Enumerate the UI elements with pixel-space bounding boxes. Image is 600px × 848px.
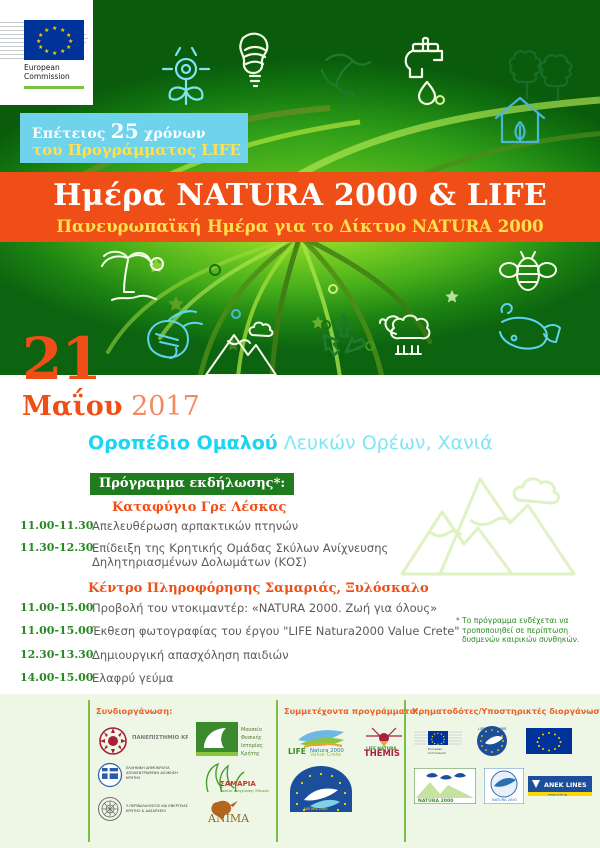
- flower-icon: [163, 48, 209, 104]
- shrimp-icon: [148, 311, 202, 358]
- life-value-crete-icon: LIFE Natura 2000 Value Crete: [284, 726, 356, 756]
- natura-2000-network-icon: NATURA 2000: [414, 768, 476, 804]
- anniversary-badge: Επέτειος 25 χρόνων του Προγράμματος LIFE: [20, 113, 248, 163]
- logo-natura-2000-network: NATURA 2000: [414, 768, 476, 804]
- footer: Συνδιοργάνωση: Συμμετέχοντα προγράμματα:…: [0, 694, 600, 848]
- location-secondary: Λευκών Ορέων, Χανιά: [284, 432, 493, 454]
- life-programme-icon: LIFE PROGRAMME: [470, 724, 514, 758]
- natural-history-museum-icon: Μουσείο Φυσικής Ιστορίας Κρήτης: [196, 722, 272, 758]
- eu-logo-caption: European Commission: [24, 64, 86, 81]
- footer-heading-programmes: Συμμετέχοντα προγράμματα:: [284, 706, 419, 716]
- european-union-icon: [526, 726, 572, 756]
- logo-label: ANIMA: [207, 812, 250, 824]
- lightbulb-icon: [240, 34, 267, 86]
- logo-samaria: ΣΑΜΑΡΙΑ Φορέας Διαχείρισης Εθνικού Δρυμο…: [200, 762, 270, 796]
- anima-icon: ANIMA: [204, 798, 270, 824]
- schedule-time: 11.00-15.00: [20, 624, 93, 637]
- logo-life-natura-badge: NATURA 2000: [288, 766, 354, 814]
- svg-text:ΚΡΗΤΗΣ: ΚΡΗΤΗΣ: [126, 776, 141, 780]
- venue-title-2: Κέντρο Πληροφόρησης Σαμαριάς, Ξυλόσκαλο: [88, 581, 429, 596]
- palm-tree-icon: [102, 252, 163, 300]
- logo-label: ΠΑΝΕΠΙΣΤΗΜΙΟ ΚΡΗΤΗΣ: [132, 735, 188, 741]
- program-footnote: * Το πρόγραμμα ενδέχεται να τροποποιηθεί…: [462, 616, 594, 645]
- logo-life-programme: LIFE PROGRAMME: [470, 724, 514, 758]
- anniversary-suffix: χρόνων: [139, 126, 206, 142]
- university-of-crete-icon: ΠΑΝΕΠΙΣΤΗΜΙΟ ΚΡΗΤΗΣ: [96, 725, 188, 757]
- footnote-text: Το πρόγραμμα ενδέχεται να τροποποιηθεί σ…: [462, 616, 579, 644]
- logo-label: ANEK LINES: [544, 781, 587, 789]
- svg-text:Φορέας Διαχείρισης Εθνικού Δρυ: Φορέας Διαχείρισης Εθνικού Δρυμού: [220, 789, 270, 793]
- eu-commission-logo: ★ ★ ★ ★ ★ ★ ★ ★ ★ ★ ★ ★ European Commiss…: [14, 14, 90, 98]
- schedule-time: 11.00-15.00: [20, 601, 93, 614]
- svg-text:Ιστορίας: Ιστορίας: [241, 742, 263, 749]
- logo-decentralized-administration: ΕΛΛΗΝΙΚΗ ΔΗΜΟΚΡΑΤΙΑ ΑΠΟΚΕΝΤΡΩΜΕΝΗ ΔΙΟΙΚΗ…: [96, 760, 188, 790]
- schedule-time: 11.30-12.30: [20, 541, 93, 554]
- logo-life-natura-themis: LIFE NATURA THEMIS: [358, 724, 412, 756]
- event-location: Οροπέδιο Ομαλού Λευκών Ορέων, Χανιά: [88, 432, 493, 454]
- svg-text:NATURA 2000: NATURA 2000: [492, 798, 518, 802]
- svg-text:Value Crete: Value Crete: [310, 752, 342, 756]
- event-day: 21: [22, 330, 101, 388]
- whale-icon: [500, 304, 560, 349]
- decentralized-administration-icon: ΕΛΛΗΝΙΚΗ ΔΗΜΟΚΡΑΤΙΑ ΑΠΟΚΕΝΤΡΩΜΕΝΗ ΔΙΟΙΚΗ…: [96, 760, 188, 790]
- schedule-text: Προβολή του ντοκιμαντέρ: «NATURA 2000. Ζ…: [92, 601, 472, 615]
- anniversary-prefix: Επέτειος: [32, 126, 111, 142]
- schedule-text: Απελευθέρωση αρπακτικών πτηνών: [92, 519, 472, 533]
- svg-text:ΕΛΛΗΝΙΚΗ ΔΗΜΟΚΡΑΤΙΑ: ΕΛΛΗΝΙΚΗ ΔΗΜΟΚΡΑΤΙΑ: [126, 766, 170, 770]
- footer-divider-3: [404, 700, 406, 842]
- footer-divider-1: [88, 700, 90, 842]
- page-title: Ημέρα NATURA 2000 & LIFE: [0, 178, 600, 213]
- anniversary-number: 25: [111, 119, 139, 143]
- svg-text:THEMIS: THEMIS: [364, 748, 400, 756]
- venue-title-1: Καταφύγιο Γρε Λέσκας: [112, 500, 286, 515]
- logo-ministry-environment: Υ.ΠΕΡΙΒΑΛΛΟΝΤΟΣ ΚΑΙ ΕΝΕΡΓΕΙΑΣ ΚΡΗΤΗΣ & Δ…: [96, 794, 188, 824]
- faucet-icon: [406, 38, 442, 104]
- logo-anek-lines: ANEK LINES www.anek.gr: [528, 776, 592, 798]
- life-natura-themis-icon: LIFE NATURA THEMIS: [358, 724, 412, 756]
- european-commission-footer-icon: European Commission: [414, 726, 462, 756]
- ministry-environment-icon: Υ.ΠΕΡΙΒΑΛΛΟΝΤΟΣ ΚΑΙ ΕΝΕΡΓΕΙΑΣ ΚΡΗΤΗΣ & Δ…: [96, 794, 188, 824]
- schedule-time: 11.00-11.30: [20, 519, 93, 532]
- svg-text:LIFE PROGRAMME: LIFE PROGRAMME: [478, 727, 506, 731]
- eu-caption-line2: Commission: [24, 73, 86, 82]
- footer-heading-funders: Χρηματοδότες/Υποστηρικτές διοργάνωσης:: [412, 706, 600, 716]
- schedule-time: 14.00-15.00: [20, 671, 93, 684]
- logo-label: ΣΑΜΑΡΙΑ: [220, 780, 256, 788]
- eco-house-icon: [496, 98, 544, 142]
- schedule-time: 12.30-13.30: [20, 648, 93, 661]
- footnote-marker: *: [456, 616, 460, 626]
- eu-logo-rule: [24, 86, 84, 89]
- event-month: Μαΐου: [22, 391, 122, 422]
- logo-natura-2000-circular: NATURA 2000: [484, 768, 524, 804]
- anek-lines-icon: ANEK LINES www.anek.gr: [528, 776, 592, 798]
- svg-text:Μουσείο: Μουσείο: [241, 726, 262, 733]
- eu-flag-icon: ★ ★ ★ ★ ★ ★ ★ ★ ★ ★ ★ ★: [24, 20, 84, 60]
- mountains-icon: [206, 323, 276, 375]
- svg-text:Κρήτης: Κρήτης: [241, 750, 260, 757]
- main-title-bar: Ημέρα NATURA 2000 & LIFE Πανευρωπαϊκή Ημ…: [0, 172, 600, 242]
- svg-text:Υ.ΠΕΡΙΒΑΛΛΟΝΤΟΣ ΚΑΙ ΕΝΕΡΓΕΙΑΣ: Υ.ΠΕΡΙΒΑΛΛΟΝΤΟΣ ΚΑΙ ΕΝΕΡΓΕΙΑΣ: [126, 804, 188, 808]
- footer-heading-organizers: Συνδιοργάνωση:: [96, 706, 172, 716]
- logo-european-union: [526, 726, 572, 756]
- schedule-text: Δημιουργική απασχόληση παιδιών: [92, 648, 472, 662]
- svg-text:LIFE: LIFE: [288, 747, 306, 756]
- page-subtitle: Πανευρωπαϊκή Ημέρα για το Δίκτυο NATURA …: [0, 217, 600, 236]
- logo-natural-history-museum: Μουσείο Φυσικής Ιστορίας Κρήτης: [196, 722, 272, 758]
- life-natura-badge-icon: NATURA 2000: [288, 766, 354, 814]
- hummingbird-icon: [322, 55, 370, 102]
- logo-university-of-crete: ΠΑΝΕΠΙΣΤΗΜΙΟ ΚΡΗΤΗΣ: [96, 725, 188, 757]
- location-primary: Οροπέδιο Ομαλού: [88, 432, 278, 454]
- svg-text:www.anek.gr: www.anek.gr: [548, 792, 568, 796]
- program-badge: Πρόγραμμα εκδήλωσης*:: [90, 473, 294, 495]
- anniversary-line2: του Προγράμματος LIFE: [32, 141, 241, 159]
- schedule-text: Ελαφρύ γεύμα: [92, 671, 472, 685]
- recycle-icon: [324, 315, 365, 355]
- svg-text:Commission: Commission: [428, 751, 446, 755]
- svg-text:Φυσικής: Φυσικής: [241, 734, 262, 741]
- anniversary-line1: Επέτειος 25 χρόνων: [32, 119, 206, 143]
- logo-life-value-crete: LIFE Natura 2000 Value Crete: [284, 726, 356, 756]
- schedule-text: Επίδειξη της Κρητικής Ομάδας Σκύλων Ανίχ…: [92, 541, 402, 569]
- logo-anima: ANIMA: [204, 798, 270, 824]
- svg-text:NATURA 2000: NATURA 2000: [304, 807, 327, 811]
- event-month-year: Μαΐου 2017: [22, 393, 200, 420]
- svg-text:ΚΡΗΤΗΣ & ΔΑΣΑΡΧΕΙΟ: ΚΡΗΤΗΣ & ΔΑΣΑΡΧΕΙΟ: [126, 809, 166, 813]
- logo-european-commission-footer: European Commission: [414, 726, 462, 756]
- sheep-icon: [380, 316, 429, 355]
- samaria-icon: ΣΑΜΑΡΙΑ Φορέας Διαχείρισης Εθνικού Δρυμο…: [200, 762, 270, 796]
- natura-2000-circular-icon: NATURA 2000: [484, 768, 524, 804]
- event-year: 2017: [131, 391, 200, 422]
- schedule-text: Έκθεση φωτογραφίας του έργου "LIFE Natur…: [92, 624, 472, 638]
- svg-text:NATURA 2000: NATURA 2000: [418, 798, 453, 804]
- footer-divider-2: [276, 700, 278, 842]
- bee-icon: [500, 252, 556, 290]
- poster-root: ★ ★ ★ ★ ★ ★ ★ ★ ★ ★ ★ ★ European Commiss…: [0, 0, 600, 848]
- trees-icon: [510, 51, 572, 100]
- svg-text:ΑΠΟΚΕΝΤΡΩΜΕΝΗ ΔΙΟΙΚΗΣΗ: ΑΠΟΚΕΝΤΡΩΜΕΝΗ ΔΙΟΙΚΗΣΗ: [126, 771, 178, 775]
